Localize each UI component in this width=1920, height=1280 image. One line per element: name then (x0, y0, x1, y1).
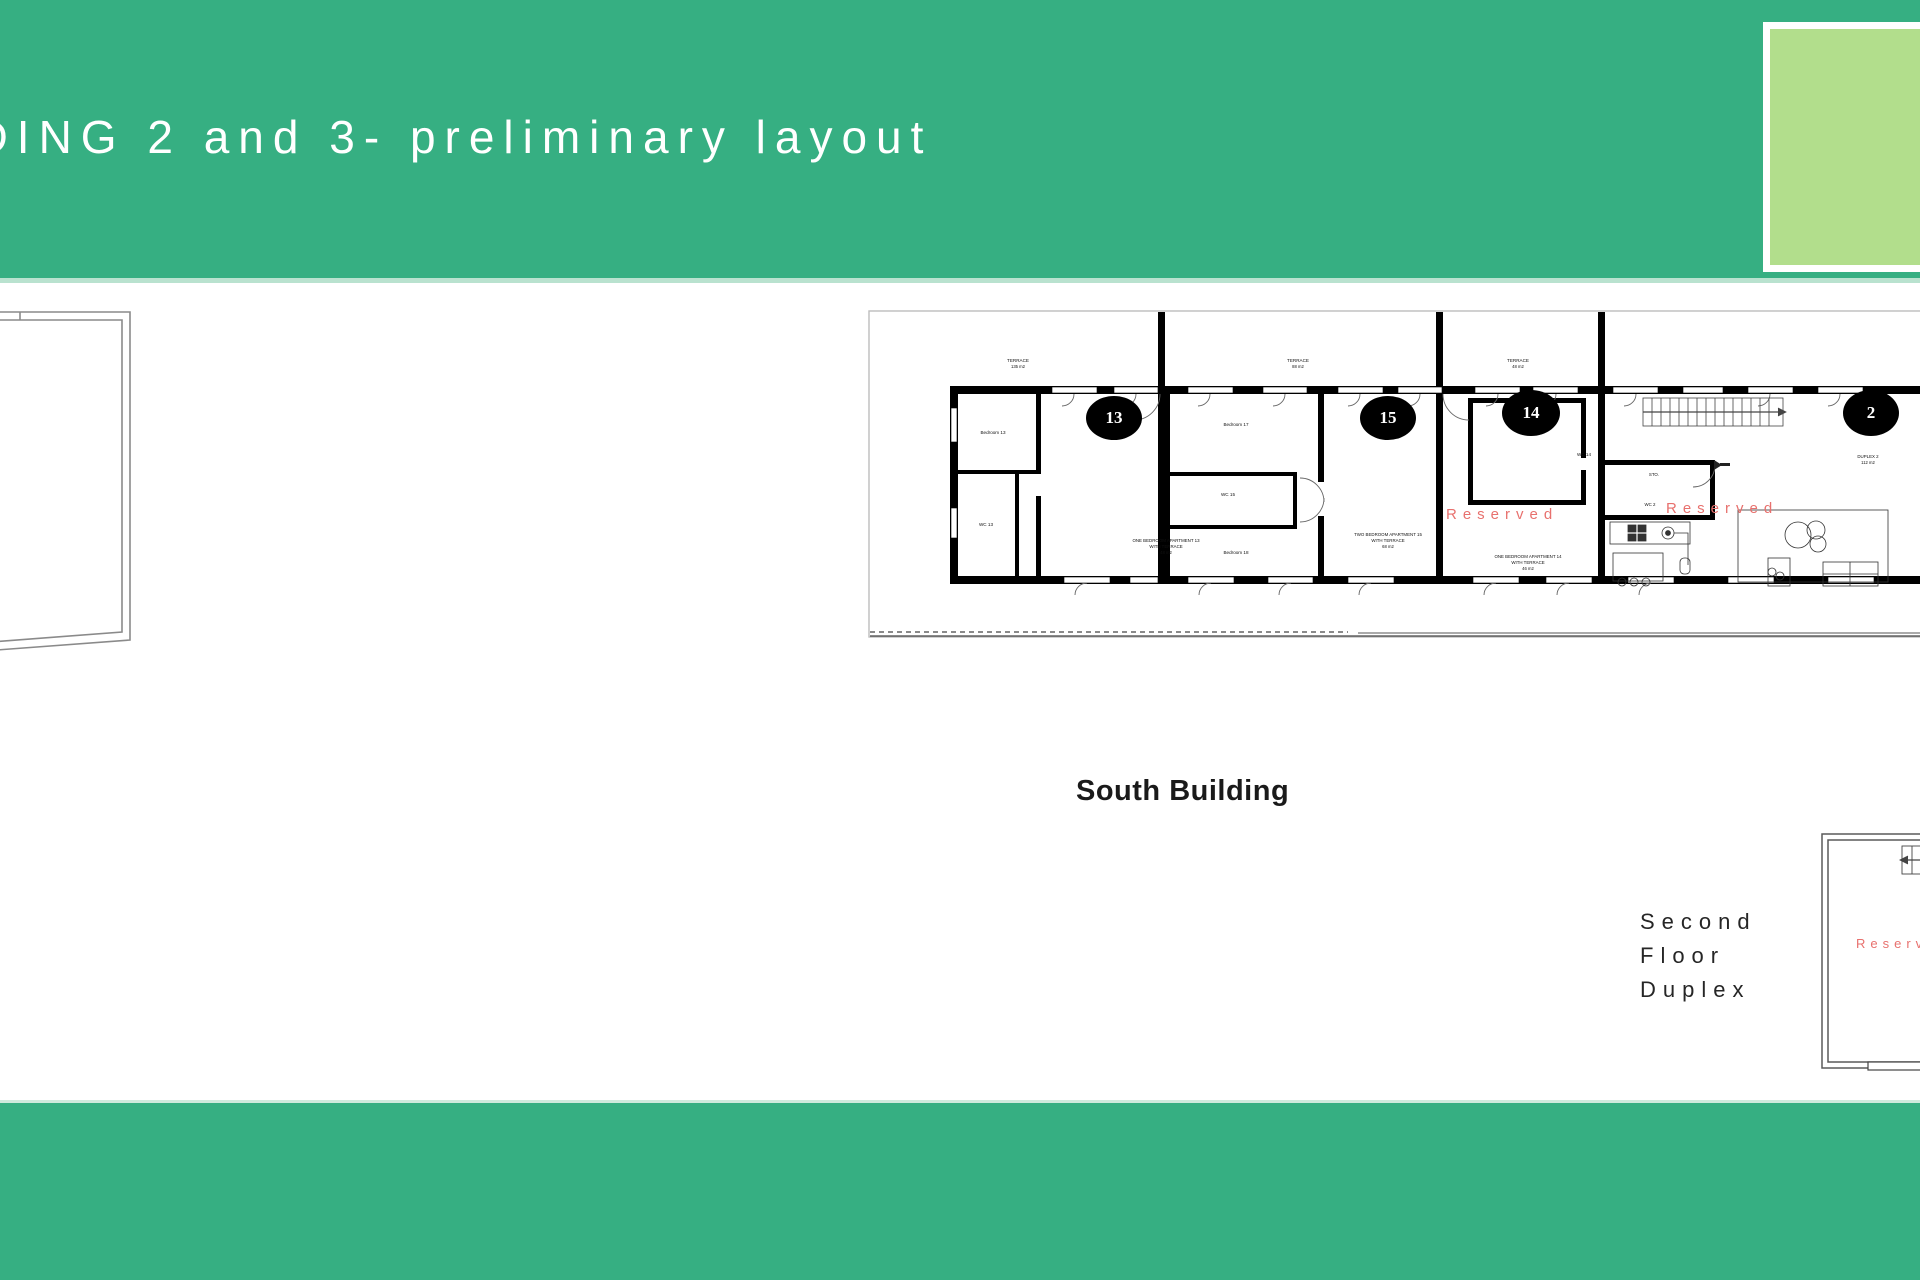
second-floor-duplex-plan: Reserved (1820, 832, 1920, 1082)
unit-desc-14-l3: 46 m2 (1522, 566, 1534, 571)
page-title: LDING 2 and 3- preliminary layout (0, 110, 932, 164)
plumbing-icon (1714, 460, 1730, 470)
terrace-area-13: 135 m2 (1011, 364, 1026, 369)
duplex-bottom-window (1868, 1062, 1920, 1070)
sofa-icon (1613, 553, 1663, 586)
unit-desc-13-l1: ONE BEDROOM APARTMENT 13 (1132, 538, 1200, 543)
kitchen-fixtures (1610, 522, 1690, 574)
main-plan-svg: TERRACE 135 m2 TERRACE 88 m2 TERRACE 48 … (868, 310, 1920, 640)
unit-desc-13-l3: 48 m2 (1160, 550, 1172, 555)
duplex-label-line-1: Second (1640, 905, 1757, 939)
unit-desc-15-l2: WITH TERRACE (1371, 538, 1404, 543)
left-partial-floor-plan: ENTRANCE (0, 310, 180, 780)
slide-footer-bar (0, 1103, 1920, 1280)
room-label-bedroom-17: Bedroom 17 (1223, 422, 1248, 427)
terrace-label-15: TERRACE (1287, 358, 1309, 363)
unit-desc-15-l3: 68 m2 (1382, 544, 1394, 549)
duplex-staircase-icon (1900, 846, 1920, 874)
duplex-plan-svg (1820, 832, 1920, 1082)
unit-desc-14-l1: ONE BEDROOM APARTMENT 14 (1494, 554, 1562, 559)
header-underline (0, 278, 1920, 283)
structural-walls (950, 312, 1920, 584)
room-label-wc-15: WC 15 (1221, 492, 1235, 497)
room-label-sto: STO. (1649, 472, 1659, 477)
unit-badge-2[interactable]: 2 (1843, 390, 1899, 436)
unit-desc-13-l2: WITH TERRACE (1149, 544, 1182, 549)
second-floor-duplex-label: Second Floor Duplex (1640, 905, 1757, 1007)
unit-badge-15-number: 15 (1380, 408, 1397, 428)
unit-badge-13[interactable]: 13 (1086, 396, 1142, 440)
room-label-bedroom-18: Bedroom 18 (1223, 550, 1248, 555)
duplex-label-line-2: Floor (1640, 939, 1757, 973)
unit-desc-2-l2: 112 m2 (1861, 460, 1875, 465)
unit-badge-2-number: 2 (1867, 403, 1876, 423)
room-label-wc-14: WC 14 (1577, 452, 1591, 457)
unit-desc-2-l1: DUPLEX 2 (1857, 454, 1879, 459)
terrace-area-14: 48 m2 (1512, 364, 1524, 369)
ground-hatch (870, 632, 1920, 636)
staircase-icon (1643, 398, 1786, 426)
door-swings (1062, 394, 1840, 595)
unit-badge-14-number: 14 (1523, 403, 1540, 423)
reserved-label-unit-14: Reserved (1446, 506, 1558, 523)
unit-desc-14-l2: WITH TERRACE (1511, 560, 1544, 565)
reserved-label-unit-2: Reserved (1666, 500, 1778, 517)
room-label-bedroom-13: Bedroom 13 (980, 430, 1005, 435)
unit-badge-13-number: 13 (1106, 408, 1123, 428)
unit-badge-15[interactable]: 15 (1360, 396, 1416, 440)
room-label-wc-13: WC 13 (979, 522, 993, 527)
dining-table-icon (1738, 510, 1888, 586)
room-label-wc-2: WC 2 (1645, 502, 1657, 507)
left-plan-svg: ENTRANCE (0, 310, 180, 780)
south-building-label: South Building (1076, 775, 1289, 808)
header-accent-square (1763, 22, 1920, 272)
unit-desc-15-l1: TWO BEDROOM APARTMENT 15 (1354, 532, 1422, 537)
terrace-label-14: TERRACE (1507, 358, 1529, 363)
south-building-floor-plan: TERRACE 135 m2 TERRACE 88 m2 TERRACE 48 … (868, 310, 1920, 640)
reserved-label-duplex: Reserved (1856, 936, 1920, 951)
terrace-label-13: TERRACE (1007, 358, 1029, 363)
duplex-label-line-3: Duplex (1640, 973, 1757, 1007)
terrace-area-15: 88 m2 (1292, 364, 1304, 369)
unit-badge-14[interactable]: 14 (1502, 390, 1560, 436)
